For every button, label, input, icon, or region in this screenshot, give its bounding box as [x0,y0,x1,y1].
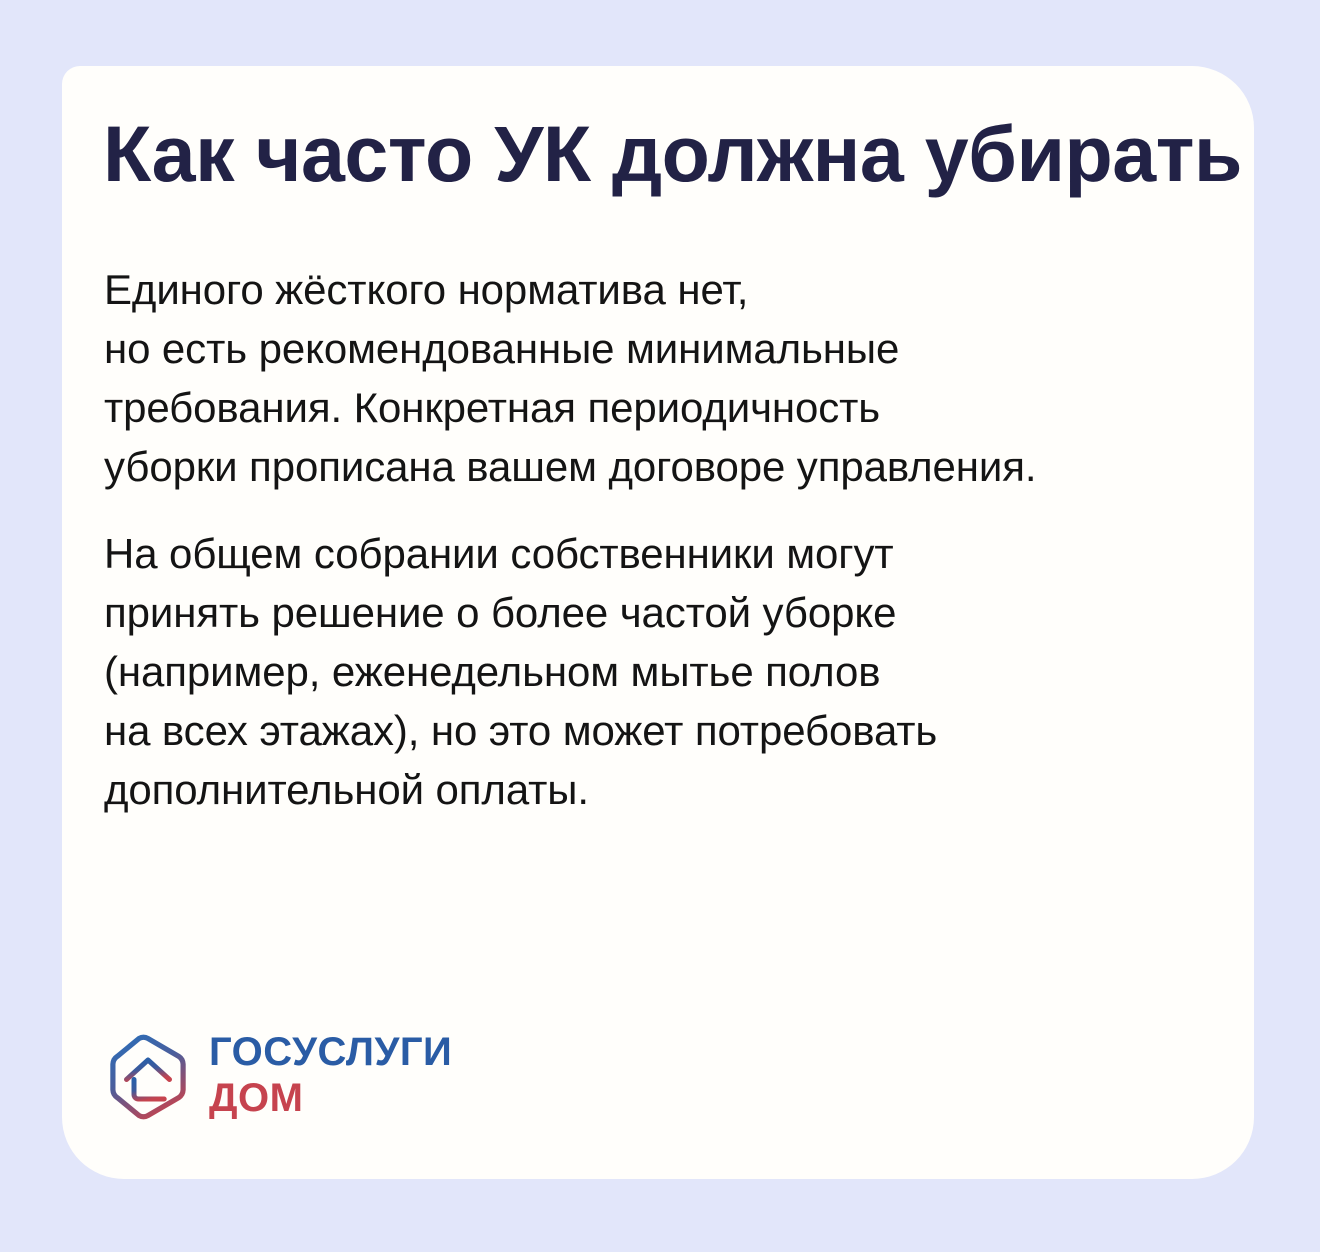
logo-word-dom: ДОМ [209,1078,452,1119]
body-copy: Единого жёсткого норматива нет, но есть … [104,260,1134,819]
house-in-hexagon-icon [108,1034,188,1120]
paragraph-line: Единого жёсткого норматива нет, [104,260,1134,319]
paragraph-1: Единого жёсткого норматива нет, но есть … [104,260,1134,496]
paragraph-line: требования. Конкретная периодичность [104,378,1134,437]
paragraph-line: (например, еженедельном мытье полов [104,642,1134,701]
paragraph-line: на всех этажах), но это может потребоват… [104,701,1134,760]
paragraph-line: уборки прописана вашем договоре управлен… [104,437,1134,496]
gosuslugi-dom-logo: ГОСУСЛУГИ ДОМ [108,1032,452,1121]
info-card: Как часто УК должна убирать Единого жёст… [62,66,1254,1179]
logo-wordmark: ГОСУСЛУГИ ДОМ [209,1032,452,1121]
paragraph-line: На общем собрании собственники могут [104,524,1134,583]
page-title: Как часто УК должна убирать [103,114,1193,195]
paragraph-2: На общем собрании собственники могут при… [104,524,1134,819]
logo-word-gosuslugi: ГОСУСЛУГИ [209,1032,452,1073]
paragraph-line: принять решение о более частой уборке [104,583,1134,642]
paragraph-line: но есть рекомендованные минимальные [104,319,1134,378]
paragraph-line: дополнительной оплаты. [104,760,1134,819]
